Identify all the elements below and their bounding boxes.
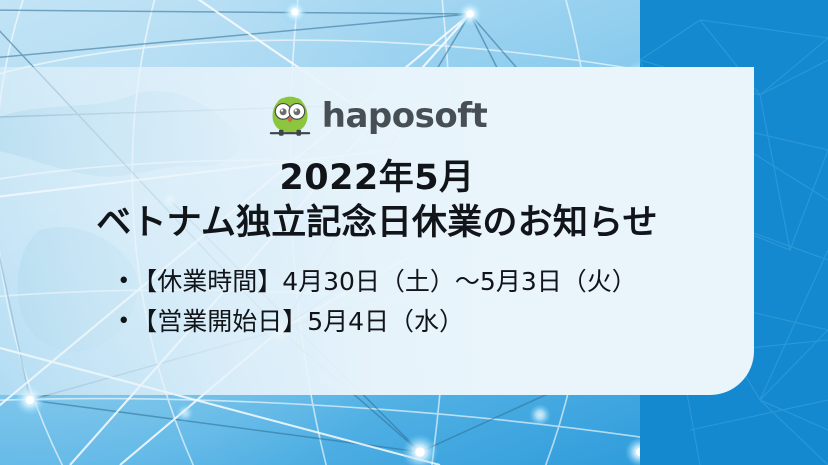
title-line-1: 2022年5月 <box>96 156 657 201</box>
list-item-text: 【休業時間】4月30日（土）〜5月3日（火） <box>132 262 637 303</box>
announcement-slide: haposoft 2022年5月 ベトナム独立記念日休業のお知らせ • 【休業時… <box>0 0 828 465</box>
brand-logo: haposoft <box>267 93 488 139</box>
bullet-marker-icon: • <box>117 271 130 293</box>
notice-bullet-list: • 【休業時間】4月30日（土）〜5月3日（火） • 【営業開始日】5月4日（水… <box>117 262 637 343</box>
owl-logo-icon <box>267 93 313 139</box>
list-item-text: 【営業開始日】5月4日（水） <box>132 302 464 343</box>
list-item: • 【休業時間】4月30日（土）〜5月3日（火） <box>117 262 637 303</box>
title-block: 2022年5月 ベトナム独立記念日休業のお知らせ <box>96 156 657 246</box>
list-item: • 【営業開始日】5月4日（水） <box>117 302 637 343</box>
brand-wordmark: haposoft <box>322 99 488 133</box>
title-line-2: ベトナム独立記念日休業のお知らせ <box>96 201 657 246</box>
bullet-marker-icon: • <box>117 311 130 333</box>
slide-content: haposoft 2022年5月 ベトナム独立記念日休業のお知らせ • 【休業時… <box>0 67 754 395</box>
